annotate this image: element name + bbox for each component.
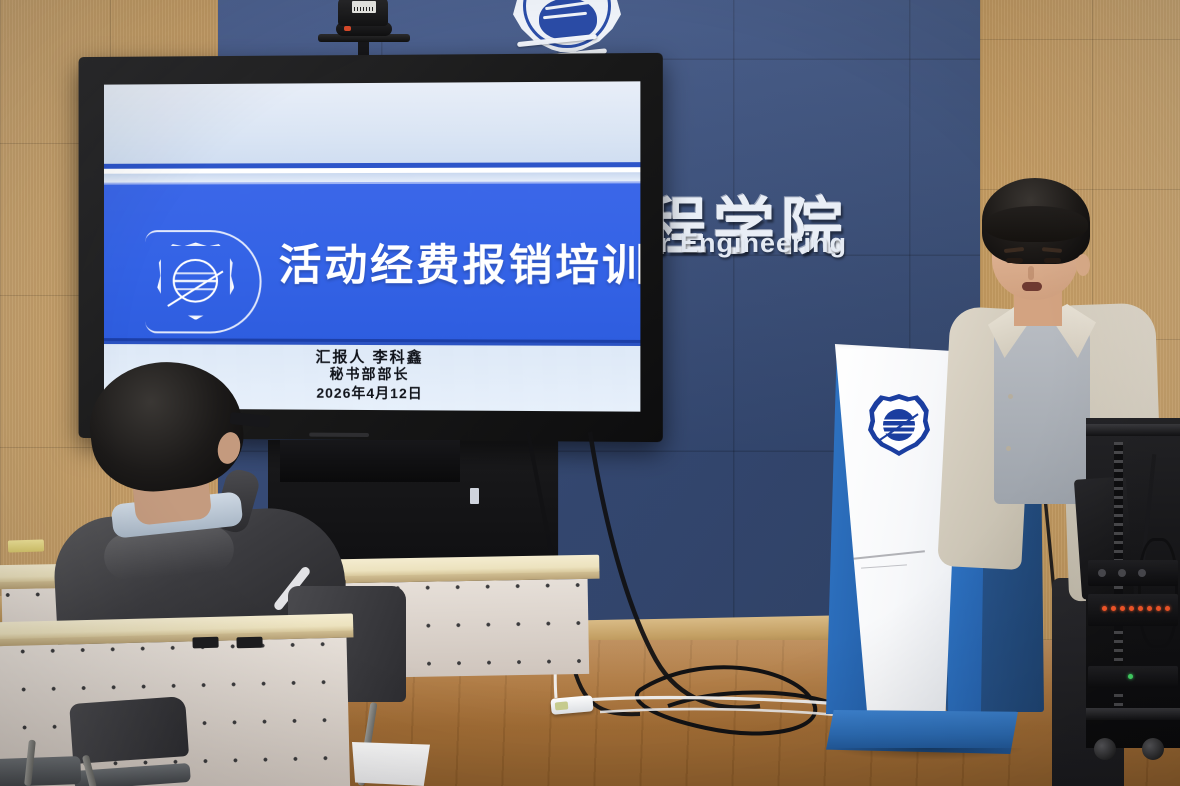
slide-title-band: 活动经费报销培训 [104,181,640,343]
wall-socket-plate [470,488,479,504]
school-logo-icon [151,237,242,329]
slide-title: 活动经费报销培训 [279,231,641,294]
lectern-emblem-icon [868,394,930,456]
slide-top-band [104,81,640,168]
floor-paper [352,742,430,786]
desk-paper [8,539,44,552]
av-equipment-rack [1086,418,1180,748]
ptz-camera-icon [318,0,410,52]
chair-front-far-left [0,710,81,786]
lecture-room-scene: 程学院 r Engineering [0,0,1180,786]
wall-sign-english: r Engineering [660,228,847,259]
chair-front-left [69,696,191,786]
